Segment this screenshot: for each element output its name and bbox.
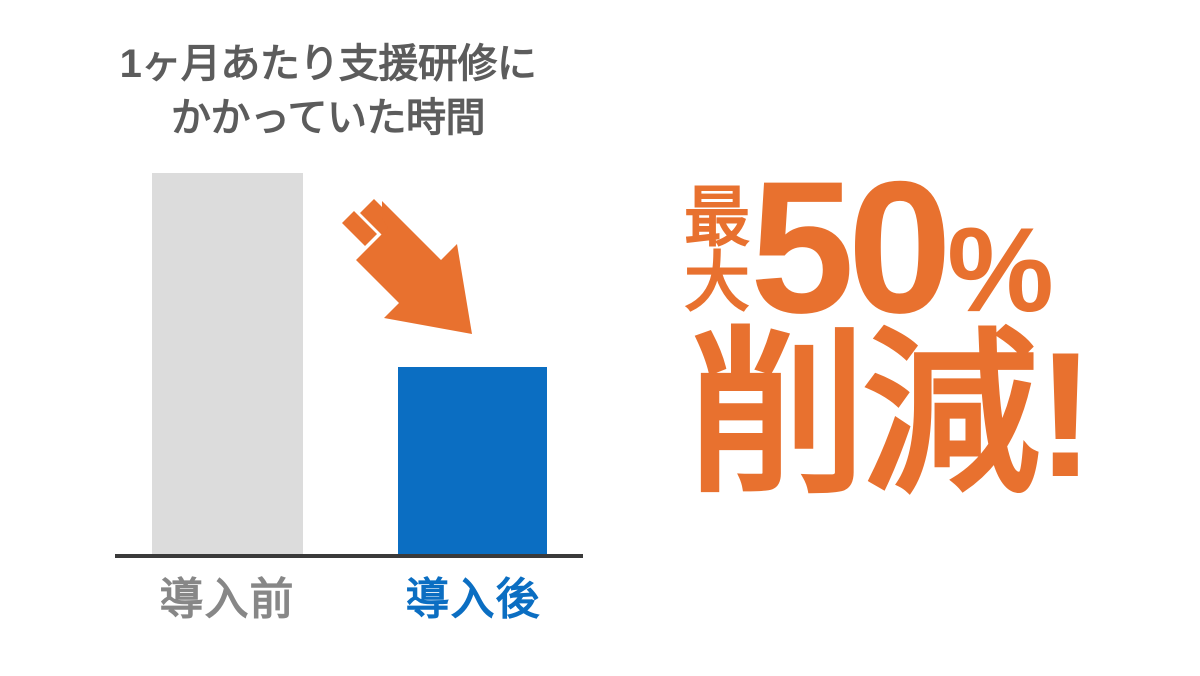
- category-label-after: 導入後: [373, 578, 573, 622]
- bar-after: [398, 367, 547, 556]
- headline-prefix-char-2: 大: [684, 250, 750, 314]
- infographic-canvas: 1ヶ月あたり支援研修に かかっていた時間 導入前 導入後: [0, 0, 1200, 676]
- axis-baseline: [115, 554, 583, 558]
- bar-before: [152, 173, 303, 556]
- headline-emphasis: 削減!: [688, 326, 1091, 504]
- headline-number: 50: [750, 170, 945, 324]
- down-right-arrow-icon: [336, 190, 496, 350]
- headline-panel: 最 大 50 % 削減!: [640, 0, 1200, 676]
- down-right-arrow-glyph: [336, 190, 496, 350]
- headline-prefix-maximum: 最 大: [684, 185, 750, 313]
- plot-area: 導入前 導入後: [0, 0, 640, 676]
- headline-row-percent: 最 大 50 %: [684, 170, 1052, 325]
- bar-chart-panel: 1ヶ月あたり支援研修に かかっていた時間 導入前 導入後: [0, 0, 640, 676]
- headline-prefix-char-1: 最: [684, 185, 750, 249]
- category-label-before: 導入前: [127, 578, 327, 622]
- headline-percent-sign: %: [947, 221, 1052, 319]
